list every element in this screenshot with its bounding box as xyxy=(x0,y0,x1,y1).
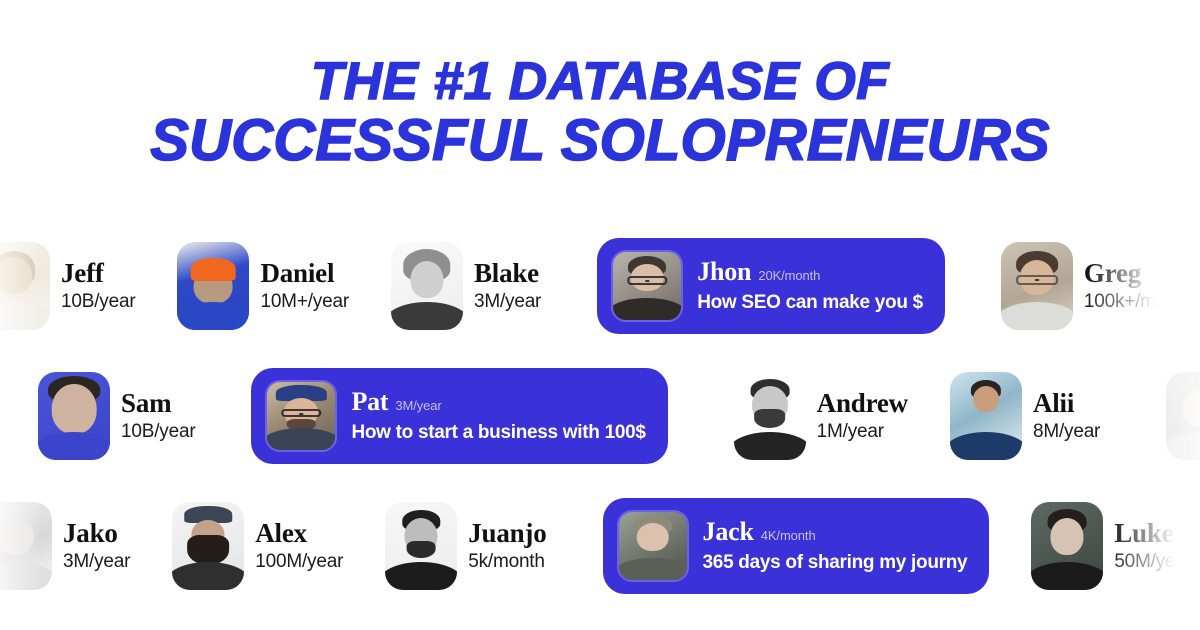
solopreneur-chip-jeff[interactable]: Jeff 10B/year xyxy=(0,242,135,330)
featured-card-jhon[interactable]: Jhon 20K/month How SEO can make you $ xyxy=(597,238,945,334)
solopreneur-meta: Jeff 10B/year xyxy=(61,259,135,313)
solopreneur-tagline: 365 days of sharing my journy xyxy=(703,552,968,574)
solopreneur-name: Blake xyxy=(474,259,541,287)
solopreneur-meta: Sam 10B/year xyxy=(121,389,195,443)
solopreneur-name: Juanjo xyxy=(468,519,546,547)
solopreneur-row: Jeff 10B/year Daniel 10M+/year xyxy=(0,232,1200,340)
featured-card-heading: Pat 3M/year xyxy=(351,388,645,415)
solopreneur-revenue: 50M/ye xyxy=(1114,552,1175,573)
solopreneur-chip-jako[interactable]: Jako 3M/year xyxy=(0,502,130,590)
solopreneur-chip-daniel[interactable]: Daniel 10M+/year xyxy=(177,242,349,330)
solopreneur-name: Jeff xyxy=(61,259,135,287)
alii-avatar xyxy=(950,372,1022,460)
solopreneur-chip-alex[interactable]: Alex 100M/year xyxy=(172,502,343,590)
solopreneur-chip-alii[interactable]: Alii 8M/year xyxy=(950,372,1100,460)
solopreneur-meta: Andrew 1M/year xyxy=(817,389,908,443)
solopreneur-meta: Blake 3M/year xyxy=(474,259,541,313)
solopreneur-grid: Jeff 10B/year Daniel 10M+/year xyxy=(0,232,1200,622)
page-title: THE #1 DATABASE OF SUCCESSFUL SOLOPRENEU… xyxy=(0,0,1200,172)
pat-avatar xyxy=(265,380,337,452)
solopreneur-name: Pat xyxy=(351,388,388,415)
featured-card-meta: Jack 4K/month 365 days of sharing my jou… xyxy=(703,518,968,573)
solopreneur-name: Andrew xyxy=(817,389,908,417)
luke-avatar xyxy=(1031,502,1103,590)
solopreneur-name: Sam xyxy=(121,389,195,417)
solopreneur-revenue: 100k+/m xyxy=(1084,292,1156,313)
solopreneur-name: Jako xyxy=(63,519,130,547)
solopreneur-meta: Jako 3M/year xyxy=(63,519,130,573)
solopreneur-meta: Daniel 10M+/year xyxy=(260,259,349,313)
solopreneur-revenue: 10M+/year xyxy=(260,292,349,313)
solopreneur-revenue: 5k/month xyxy=(468,552,546,573)
featured-card-heading: Jack 4K/month xyxy=(703,518,968,545)
blake-avatar xyxy=(391,242,463,330)
solopreneur-name: Greg xyxy=(1084,259,1156,287)
page-title-line-1: THE #1 DATABASE OF xyxy=(0,54,1200,110)
solopreneur-chip-partial[interactable] xyxy=(1166,372,1200,460)
solopreneur-tagline: How to start a business with 100$ xyxy=(351,422,645,444)
featured-card-jack[interactable]: Jack 4K/month 365 days of sharing my jou… xyxy=(603,498,990,594)
alex-avatar xyxy=(172,502,244,590)
featured-card-meta: Jhon 20K/month How SEO can make you $ xyxy=(697,258,923,313)
solopreneur-revenue: 10B/year xyxy=(61,292,135,313)
solopreneur-revenue: 4K/month xyxy=(761,528,816,543)
jhon-avatar xyxy=(611,250,683,322)
solopreneur-chip-sam[interactable]: Sam 10B/year xyxy=(38,372,195,460)
solopreneur-revenue: 8M/year xyxy=(1033,422,1100,443)
solopreneur-row: Sam 10B/year Pat 3M/year xyxy=(38,362,1200,470)
solopreneur-meta: Greg 100k+/m xyxy=(1084,259,1156,313)
solopreneur-meta: Juanjo 5k/month xyxy=(468,519,546,573)
solopreneur-chip-blake[interactable]: Blake 3M/year xyxy=(391,242,541,330)
solopreneur-meta: Alii 8M/year xyxy=(1033,389,1100,443)
solopreneur-revenue: 3M/year xyxy=(395,398,441,413)
solopreneur-chip-greg[interactable]: Greg 100k+/m xyxy=(1001,242,1156,330)
solopreneur-name: Jhon xyxy=(697,258,751,285)
sam-avatar xyxy=(38,372,110,460)
solopreneur-revenue: 100M/year xyxy=(255,552,343,573)
solopreneur-meta: Luke 50M/ye xyxy=(1114,519,1175,573)
daniel-avatar xyxy=(177,242,249,330)
page-title-line-2: SUCCESSFUL SOLOPRENEURS xyxy=(0,110,1200,171)
solopreneur-row: Jako 3M/year Alex 100M/year xyxy=(0,492,1200,600)
greg-avatar xyxy=(1001,242,1073,330)
ghost-avatar xyxy=(1166,372,1200,460)
solopreneur-name: Alii xyxy=(1033,389,1100,417)
solopreneur-chip-andrew[interactable]: Andrew 1M/year xyxy=(734,372,908,460)
solopreneur-name: Daniel xyxy=(260,259,349,287)
solopreneur-revenue: 3M/year xyxy=(63,552,130,573)
solopreneur-chip-luke[interactable]: Luke 50M/ye xyxy=(1031,502,1175,590)
featured-card-heading: Jhon 20K/month xyxy=(697,258,923,285)
solopreneur-revenue: 20K/month xyxy=(758,268,820,283)
solopreneur-tagline: How SEO can make you $ xyxy=(697,292,923,314)
jack-avatar xyxy=(617,510,689,582)
jeff-avatar xyxy=(0,242,50,330)
featured-card-meta: Pat 3M/year How to start a business with… xyxy=(351,388,645,443)
solopreneur-revenue: 10B/year xyxy=(121,422,195,443)
featured-card-pat[interactable]: Pat 3M/year How to start a business with… xyxy=(251,368,667,464)
solopreneur-chip-juanjo[interactable]: Juanjo 5k/month xyxy=(385,502,546,590)
solopreneur-name: Luke xyxy=(1114,519,1175,547)
solopreneur-revenue: 3M/year xyxy=(474,292,541,313)
solopreneur-name: Alex xyxy=(255,519,343,547)
juanjo-avatar xyxy=(385,502,457,590)
andrew-avatar xyxy=(734,372,806,460)
jako-avatar xyxy=(0,502,52,590)
solopreneur-name: Jack xyxy=(703,518,754,545)
solopreneur-revenue: 1M/year xyxy=(817,422,908,443)
solopreneur-meta: Alex 100M/year xyxy=(255,519,343,573)
